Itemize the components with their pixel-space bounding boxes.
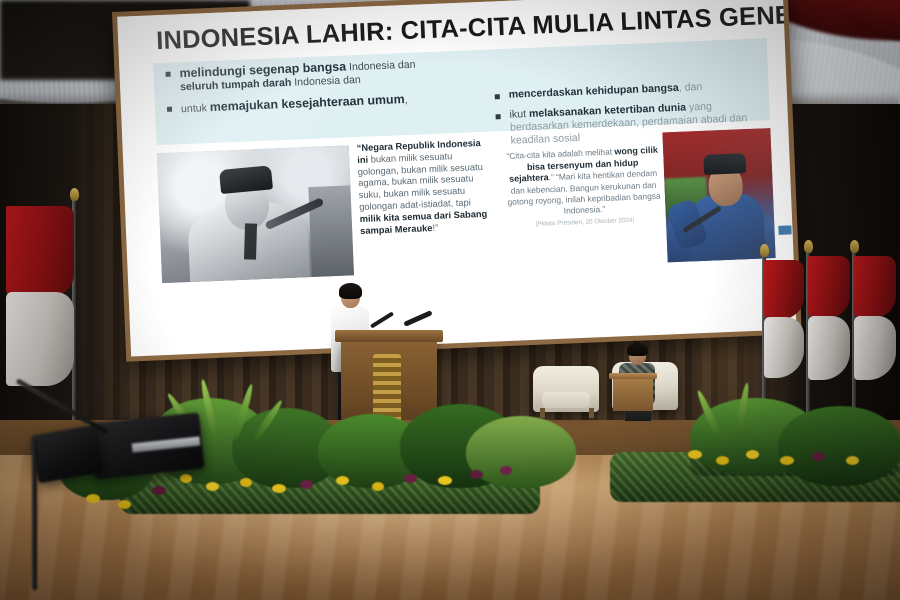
- flag-finial-left: [70, 188, 79, 201]
- yellow-flower: [688, 450, 702, 459]
- flag-red-band: [808, 256, 850, 318]
- flag-finial-right-1: [804, 240, 813, 253]
- indonesian-flag-right-3: [764, 260, 804, 378]
- quote-bold-close: milik kita semua dari Sabang sampai Mera…: [359, 209, 487, 236]
- quote-body: bukan milik sesuatu golongan, bukan mili…: [358, 151, 483, 212]
- photo-crowd-left: [159, 196, 193, 283]
- slide-bullets-left: melindungi segenap bangsa Indonesia dan …: [163, 55, 445, 124]
- armchair-leg: [540, 408, 545, 418]
- flag-white-band: [854, 316, 896, 380]
- flag-red-band: [854, 256, 896, 318]
- foliage-bush: [466, 416, 576, 488]
- quote-end: !”: [432, 222, 438, 232]
- purple-flower: [152, 486, 166, 495]
- bullet-rest: Indonesia dan: [349, 59, 416, 74]
- bullet-tail: Indonesia dan: [291, 74, 361, 89]
- purple-flower: [300, 480, 313, 489]
- historic-photo-sukarno: [157, 145, 354, 283]
- slide-quote-right: “Cita-cita kita adalah melihat wong cili…: [505, 145, 662, 230]
- yellow-flower: [336, 476, 349, 485]
- bullet-tail: ,: [404, 94, 407, 106]
- bullet-lead: ikut: [509, 108, 529, 121]
- flag-finial-right-3: [760, 244, 769, 257]
- peci-cap-icon: [703, 153, 746, 175]
- purple-flower: [470, 470, 483, 479]
- indonesian-flag-left: [6, 206, 74, 386]
- side-table-top: [609, 373, 657, 379]
- slide-accent-tab: [778, 225, 791, 235]
- yellow-flower: [180, 474, 192, 483]
- seated-guest-hair: [627, 343, 648, 356]
- foliage-bush: [778, 406, 900, 486]
- projection-screen-frame: INDONESIA LAHIR: CITA-CITA MULIA LINTAS …: [112, 0, 802, 362]
- bullet-tail: , dan: [678, 81, 702, 94]
- purple-flower: [500, 466, 512, 475]
- flag-finial-right-2: [850, 240, 859, 253]
- flag-red-band: [6, 206, 74, 296]
- yellow-flower: [118, 500, 131, 509]
- peci-cap-icon: [219, 165, 273, 194]
- color-photo-president: [662, 128, 775, 262]
- purple-flower: [812, 452, 825, 461]
- yellow-flower: [86, 494, 100, 503]
- indonesian-flag-right-2: [854, 256, 896, 380]
- slide-quote-left: “Negara Republik Indonesia ini bukan mil…: [357, 138, 489, 238]
- yellow-flower: [438, 476, 452, 485]
- bullet-item: untuk memajukan kesejahteraan umum,: [165, 90, 445, 117]
- yellow-flower: [272, 484, 286, 493]
- yellow-flower: [240, 478, 252, 487]
- bullet-bold: memajukan kesejahteraan umum: [210, 92, 405, 114]
- armchair-leg: [589, 408, 594, 418]
- yellow-flower: [780, 456, 794, 465]
- speaker-hair: [339, 283, 362, 299]
- quote-source: (Pidato Presiden, 20 Oktober 2024): [508, 215, 662, 229]
- stage-photograph: INDONESIA LAHIR: CITA-CITA MULIA LINTAS …: [0, 0, 900, 600]
- yellow-flower: [846, 456, 859, 465]
- flag-red-band: [764, 260, 804, 319]
- flag-white-band: [808, 316, 850, 380]
- presentation-slide: INDONESIA LAHIR: CITA-CITA MULIA LINTAS …: [117, 0, 796, 357]
- yellow-flower: [716, 456, 729, 465]
- yellow-flower: [206, 482, 219, 491]
- armchair-left-seat: [542, 392, 590, 408]
- bullet-lead: untuk: [181, 102, 210, 115]
- tripod-leg: [32, 440, 37, 590]
- flag-white-band: [764, 317, 804, 378]
- photo-figure-tie: [244, 223, 257, 259]
- yellow-flower: [746, 450, 759, 459]
- indonesian-flag-right-1: [808, 256, 850, 380]
- flag-white-band: [6, 292, 74, 386]
- purple-flower: [404, 474, 417, 483]
- podium-top-surface: [335, 330, 443, 342]
- yellow-flower: [372, 482, 384, 491]
- side-table: [613, 377, 653, 411]
